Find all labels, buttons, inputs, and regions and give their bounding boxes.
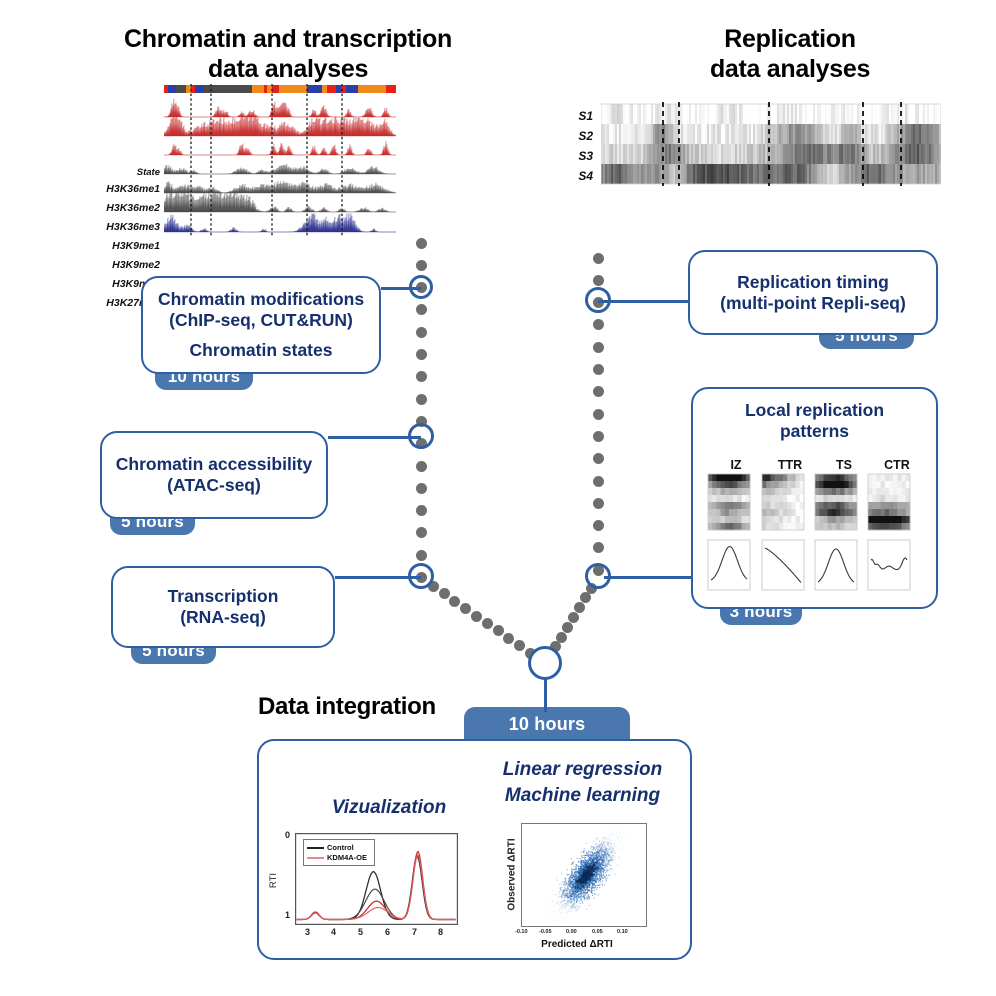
connector-dot xyxy=(416,416,427,427)
integration-label-machine-learning: Machine learning xyxy=(475,785,690,807)
connector-dot xyxy=(593,542,604,553)
box-local-patterns-line2: patterns xyxy=(780,421,849,442)
box-replication-timing-line2: (multi-point Repli-seq) xyxy=(720,293,906,314)
connector-dot xyxy=(550,641,561,652)
connector-local-patterns xyxy=(604,576,692,579)
rti-xtick-5: 5 xyxy=(358,927,363,937)
box-chromatin-accessibility[interactable]: Chromatin accessibility (ATAC-seq) xyxy=(100,431,328,519)
connector-dot xyxy=(580,592,591,603)
connector-dot xyxy=(593,431,604,442)
connector-dot xyxy=(593,319,604,330)
right-panel-title: Replication data analyses xyxy=(640,25,940,84)
legend-swatch-kdm4a xyxy=(307,857,324,859)
legend-swatch-control xyxy=(307,847,324,849)
left-panel-title-line1: Chromatin and transcription xyxy=(124,25,452,53)
connector-transcription xyxy=(335,576,421,579)
box-replication-timing[interactable]: Replication timing (multi-point Repli-se… xyxy=(688,250,938,335)
connector-dot xyxy=(428,581,439,592)
track-label-h3k9me2: H3K9me2 xyxy=(88,260,160,271)
rti-xtick-3: 3 xyxy=(305,927,310,937)
connector-dot xyxy=(460,603,471,614)
scatter-xtick-000: 0.00 xyxy=(566,929,577,935)
badge-integration-hours: 10 hours xyxy=(464,707,630,742)
integration-label-linear-regression: Linear regression xyxy=(475,759,690,781)
connector-integration-stem xyxy=(544,676,547,712)
connector-dot xyxy=(416,371,427,382)
rti-ytick-1: 1 xyxy=(285,910,290,920)
connector-dot xyxy=(568,612,579,623)
connector-dot xyxy=(593,498,604,509)
connector-dot xyxy=(416,304,427,315)
connector-dot xyxy=(416,461,427,472)
pattern-label-iz: IZ xyxy=(714,458,758,472)
genome-browser-panel: State H3K36me1 H3K36me2 H3K36me3 H3K9me1… xyxy=(88,84,388,244)
rep-sample-label-s3: S3 xyxy=(565,150,593,162)
connector-dot xyxy=(593,453,604,464)
rti-xtick-4: 4 xyxy=(331,927,336,937)
box-chromatin-accessibility-line1: Chromatin accessibility xyxy=(116,454,312,475)
scatter-xtick-005: 0.05 xyxy=(592,929,603,935)
connector-chromatin-modifications xyxy=(381,287,421,290)
rti-ylabel: RTI xyxy=(268,873,279,888)
chromatin-tracks-plot xyxy=(164,84,396,236)
rti-profile-chart: 0 1 RTI 3 4 5 6 7 8 Control KDM4A-OE xyxy=(273,833,463,951)
box-local-replication-patterns[interactable]: Local replication patterns IZ TTR TS CTR xyxy=(691,387,938,609)
connector-dot xyxy=(593,342,604,353)
connector-dot xyxy=(586,583,597,594)
scatter-xtick-n005: -0.05 xyxy=(539,929,552,935)
rti-legend-item-kdm4a: KDM4A-OE xyxy=(307,853,371,862)
rti-xtick-7: 7 xyxy=(412,927,417,937)
rep-sample-label-s4: S4 xyxy=(565,170,593,182)
scatter-ylabel: Observed ΔRTI xyxy=(507,830,518,920)
box-chromatin-modifications-line3: Chromatin states xyxy=(190,340,333,361)
connector-dot xyxy=(593,565,604,576)
rti-legend-label-kdm4a: KDM4A-OE xyxy=(327,853,367,862)
box-chromatin-accessibility-line2: (ATAC-seq) xyxy=(167,475,261,496)
connector-dot xyxy=(556,632,567,643)
right-panel-title-line2: data analyses xyxy=(710,55,870,83)
rep-sample-label-s2: S2 xyxy=(565,130,593,142)
pattern-label-ttr: TTR xyxy=(768,458,812,472)
connector-dot xyxy=(416,238,427,249)
connector-dot xyxy=(416,438,427,449)
connector-dot xyxy=(525,648,536,659)
connector-dot xyxy=(562,622,573,633)
connector-dot xyxy=(416,527,427,538)
connector-dot xyxy=(593,520,604,531)
connector-dot xyxy=(514,640,525,651)
right-panel-title-line1: Replication xyxy=(724,25,855,53)
scatter-chart: Observed ΔRTI 0.150.100.050.00-0.05-0.10… xyxy=(489,821,684,956)
local-pattern-minicharts xyxy=(702,472,927,594)
connector-chromatin-accessibility xyxy=(328,436,421,439)
box-chromatin-modifications-line2: (ChIP-seq, CUT&RUN) xyxy=(169,310,353,331)
box-transcription-line2: (RNA-seq) xyxy=(180,607,266,628)
connector-dot xyxy=(574,602,585,613)
track-label-h3k36me3: H3K36me3 xyxy=(88,222,160,233)
rti-ytick-0: 0 xyxy=(285,830,290,840)
track-label-h3k36me1: H3K36me1 xyxy=(88,184,160,195)
box-chromatin-modifications-line1: Chromatin modifications xyxy=(158,289,364,310)
connector-dot xyxy=(593,275,604,286)
connector-dot xyxy=(503,633,514,644)
connector-dot xyxy=(482,618,493,629)
rti-legend: Control KDM4A-OE xyxy=(303,839,375,866)
pattern-label-ctr: CTR xyxy=(874,458,920,472)
connector-dot xyxy=(416,349,427,360)
scatter-xlabel: Predicted ΔRTI xyxy=(507,939,647,950)
box-transcription[interactable]: Transcription (RNA-seq) xyxy=(111,566,335,648)
connector-dot xyxy=(593,386,604,397)
scatter-xtick-010: 0.10 xyxy=(617,929,628,935)
connector-dot xyxy=(471,611,482,622)
scatter-xtick-n010: -0.10 xyxy=(515,929,528,935)
pattern-label-ts: TS xyxy=(822,458,866,472)
connector-dot xyxy=(593,364,604,375)
box-replication-timing-line1: Replication timing xyxy=(737,272,889,293)
connector-dot xyxy=(536,655,547,666)
connector-dot xyxy=(593,253,604,264)
rti-xtick-8: 8 xyxy=(438,927,443,937)
integration-label-visualization: Vizualization xyxy=(299,797,479,819)
replication-heatmap-plot xyxy=(601,102,941,194)
connector-dot xyxy=(439,588,450,599)
box-local-patterns-line1: Local replication xyxy=(745,400,884,421)
connector-dot xyxy=(416,394,427,405)
rti-legend-label-control: Control xyxy=(327,843,354,852)
connector-dot xyxy=(416,483,427,494)
track-label-h3k9me1: H3K9me1 xyxy=(88,241,160,252)
connector-dot xyxy=(416,260,427,271)
box-transcription-line1: Transcription xyxy=(168,586,279,607)
connector-dot xyxy=(449,596,460,607)
left-panel-title-line2: data analyses xyxy=(208,55,368,83)
connector-dot xyxy=(416,327,427,338)
connector-dot xyxy=(416,550,427,561)
connector-hub-ring xyxy=(528,646,562,680)
replication-heatmap-panel: S1 S2 S3 S4 xyxy=(565,100,945,195)
rep-sample-label-s1: S1 xyxy=(565,110,593,122)
connector-dot xyxy=(493,625,504,636)
connector-replication-timing xyxy=(598,300,690,303)
rti-xtick-6: 6 xyxy=(385,927,390,937)
box-data-integration[interactable]: Vizualization Linear regression Machine … xyxy=(257,739,692,960)
connector-dot xyxy=(593,297,604,308)
data-integration-title: Data integration xyxy=(258,693,478,721)
connector-dot xyxy=(593,476,604,487)
left-panel-title: Chromatin and transcription data analyse… xyxy=(93,25,483,84)
rti-legend-item-control: Control xyxy=(307,843,371,852)
connector-dot xyxy=(416,505,427,516)
box-chromatin-modifications[interactable]: Chromatin modifications (ChIP-seq, CUT&R… xyxy=(141,276,381,374)
connector-dot xyxy=(543,651,554,662)
track-label-state: State xyxy=(88,168,160,178)
track-label-h3k36me2: H3K36me2 xyxy=(88,203,160,214)
connector-dot xyxy=(593,409,604,420)
